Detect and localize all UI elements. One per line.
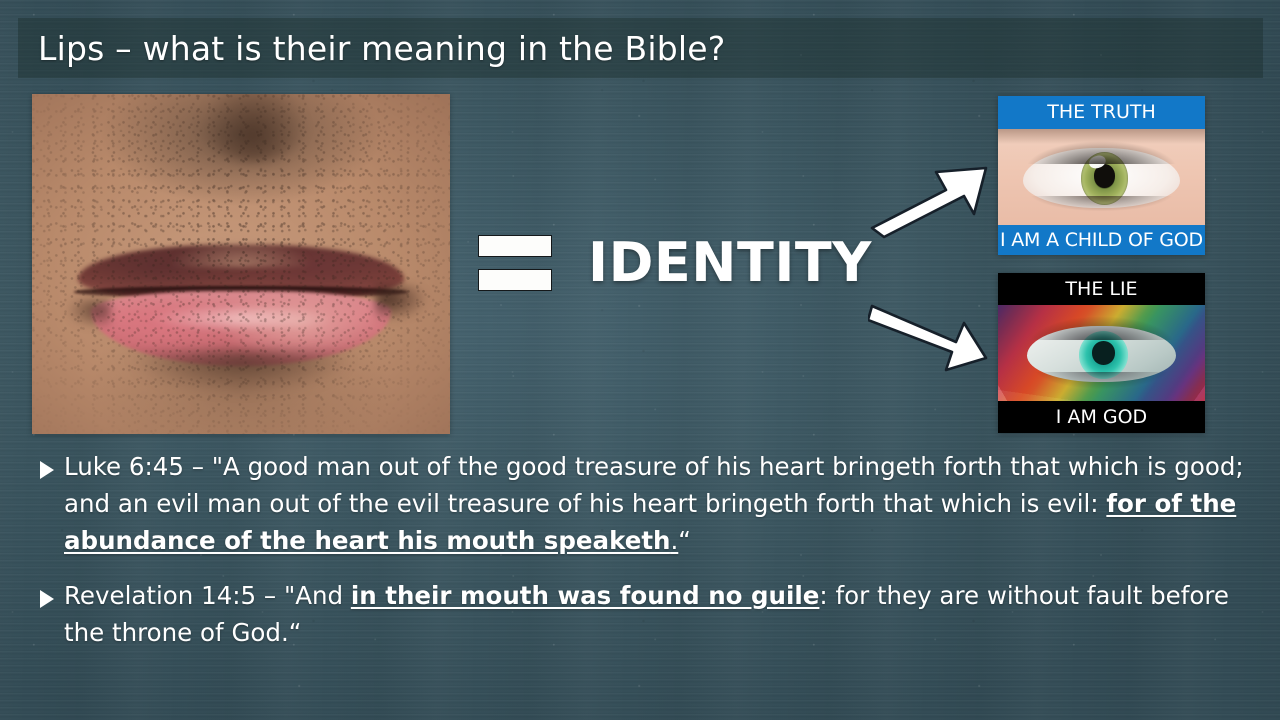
triangle-bullet-icon [40,590,54,608]
scripture-bullet-list: Luke 6:45 – "A good man out of the good … [36,448,1248,669]
text-run: Luke 6:45 – "A good man out of the good … [64,452,1244,518]
panel-lie-top-label: THE LIE [998,273,1205,305]
bullet-text: Luke 6:45 – "A good man out of the good … [64,452,1244,555]
polygonal-eye-pupil [1092,341,1115,364]
polygonal-eye-lower-lashes [1027,372,1176,391]
text-run: in their mouth was found no guile [351,581,820,610]
green-eye-lower-lashes [1023,196,1180,213]
panel-lie: THE LIE I AM GOD [998,273,1205,433]
text-run: Revelation 14:5 – "And [64,581,351,610]
arrow-up-right-icon [868,160,990,240]
lips-photo [32,94,450,434]
lips-photo-stubble [32,94,450,434]
arrow-down-right-icon [868,296,990,376]
equals-sign-icon [478,235,552,291]
triangle-bullet-icon [40,461,54,479]
bullet-item: Luke 6:45 – "A good man out of the good … [36,448,1248,559]
presentation-slide: Lips – what is their meaning in the Bibl… [0,0,1280,720]
bullet-text: Revelation 14:5 – "And in their mouth wa… [64,581,1229,647]
green-eye-brow-shadow [998,129,1205,144]
green-eye-image [998,129,1205,225]
text-run: “ [678,526,691,555]
identity-label: IDENTITY [588,231,872,294]
panel-truth-bottom-label: I AM A CHILD OF GOD [998,225,1205,255]
bullet-item: Revelation 14:5 – "And in their mouth wa… [36,577,1248,651]
polygonal-eye-image [998,305,1205,401]
panel-lie-bottom-label: I AM GOD [998,401,1205,433]
page-title: Lips – what is their meaning in the Bibl… [38,20,1138,76]
panel-truth: THE TRUTH I AM A CHILD OF GOD [998,96,1205,255]
equals-bar-bottom [478,269,552,291]
panel-truth-top-label: THE TRUTH [998,96,1205,129]
equals-bar-top [478,235,552,257]
